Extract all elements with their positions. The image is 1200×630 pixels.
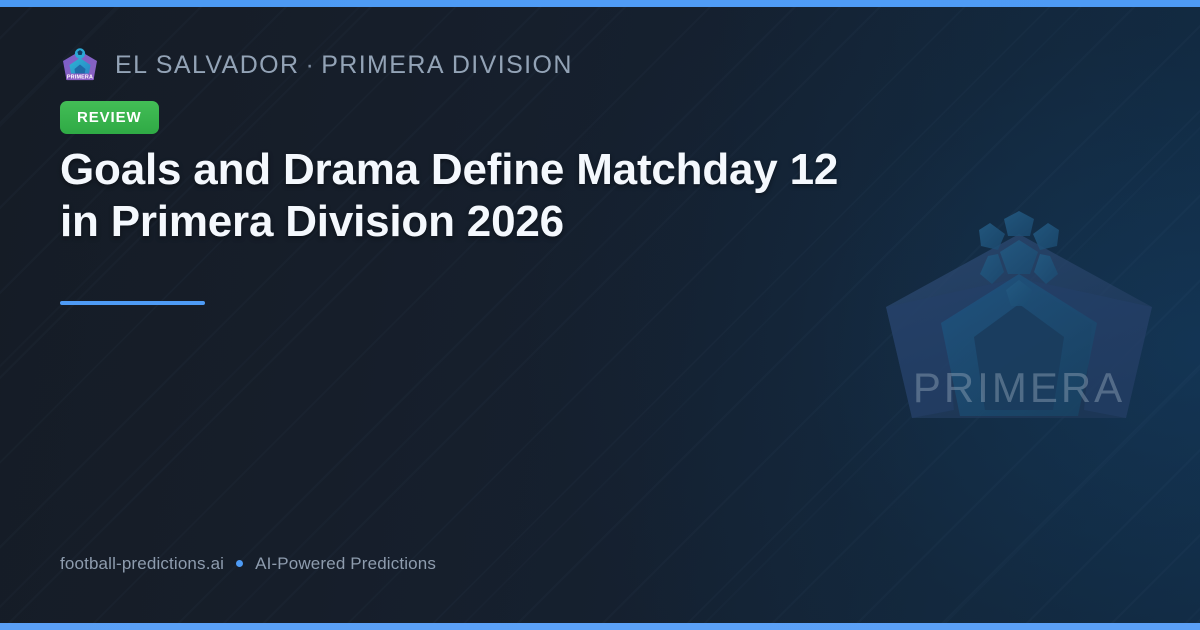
primera-crest-icon: PRIMERA xyxy=(60,45,100,85)
card-content: PRIMERA EL SALVADOR·PRIMERA DIVISION REV… xyxy=(60,0,1140,630)
accent-divider xyxy=(60,301,205,305)
status-badge: REVIEW xyxy=(60,101,159,134)
page-title-line-1: Goals and Drama Define Matchday 12 xyxy=(60,145,838,194)
share-card: PRIMERA xyxy=(0,0,1200,630)
league-separator: · xyxy=(299,51,321,79)
page-title-line-2: in Primera Division 2026 xyxy=(60,197,564,246)
footer-bullet-icon xyxy=(236,560,243,567)
svg-text:PRIMERA: PRIMERA xyxy=(67,75,93,81)
footer-tagline: AI-Powered Predictions xyxy=(255,555,436,572)
footer-site: football-predictions.ai xyxy=(60,555,224,572)
footer: football-predictions.ai AI-Powered Predi… xyxy=(60,555,436,572)
league-header-text: EL SALVADOR·PRIMERA DIVISION xyxy=(115,53,573,78)
league-header: PRIMERA EL SALVADOR·PRIMERA DIVISION xyxy=(60,45,573,85)
league-title: PRIMERA DIVISION xyxy=(321,51,573,79)
page-title: Goals and Drama Define Matchday 12 in Pr… xyxy=(60,144,1025,248)
league-country: EL SALVADOR xyxy=(115,51,299,79)
